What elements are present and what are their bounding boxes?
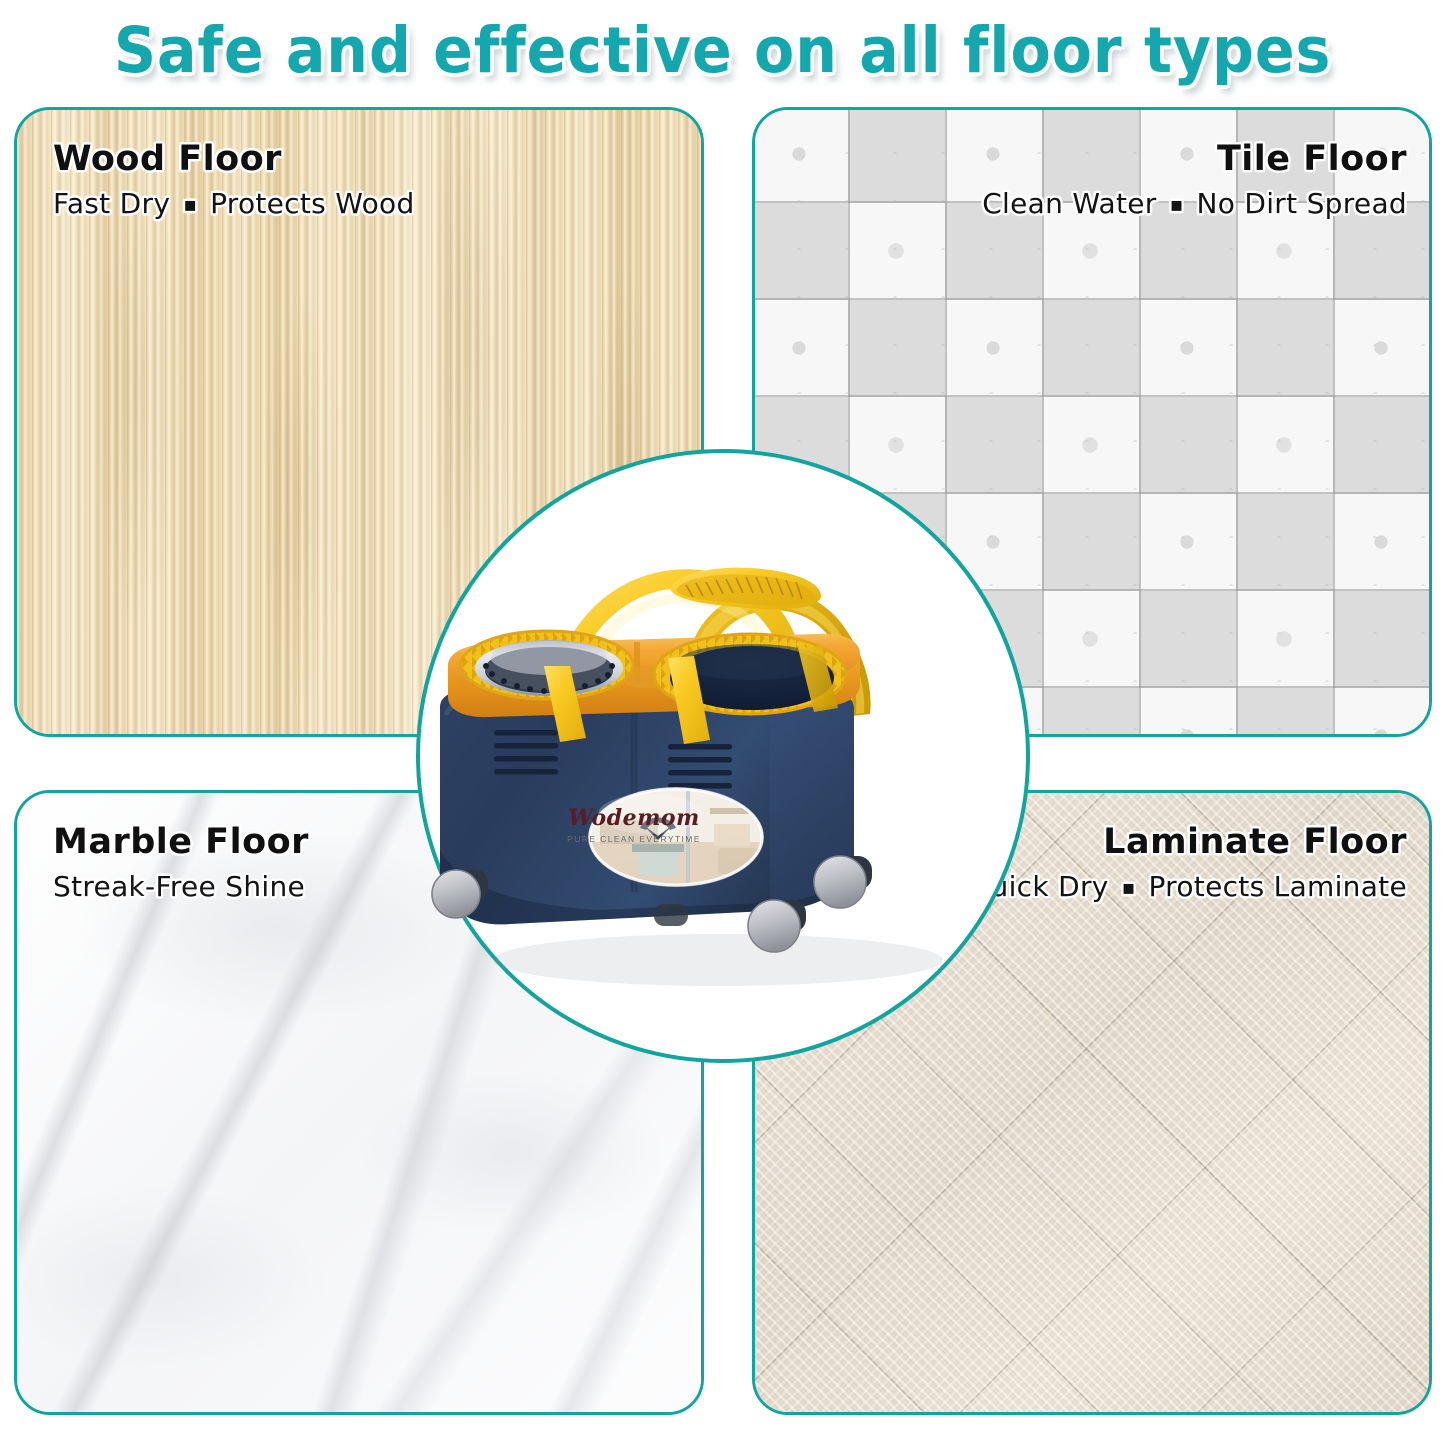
tile-caption-block: Tile Floor Clean Water▪No Dirt Spread — [982, 142, 1407, 218]
product-image-spin-mop-bucket — [418, 452, 1028, 1062]
brand-label-oval — [588, 787, 764, 887]
wood-feature-2: Protects Wood — [210, 187, 414, 220]
tile-floor-features: Clean Water▪No Dirt Spread — [982, 190, 1407, 218]
wood-floor-title: Wood Floor — [53, 142, 415, 177]
laminate-floor-title: Laminate Floor — [968, 825, 1407, 860]
tile-feature-1: Clean Water — [982, 187, 1156, 220]
marble-feature-1: Streak-Free Shine — [53, 870, 305, 903]
page-title: Safe and effective on all floor types — [114, 14, 1332, 87]
marble-caption-block: Marble Floor Streak-Free Shine — [53, 825, 309, 901]
tile-feature-2: No Dirt Spread — [1196, 187, 1407, 220]
product-infographic-poster: Safe and effective on all floor types Wo… — [0, 0, 1445, 1430]
poster-header: Safe and effective on all floor types — [0, 0, 1445, 100]
laminate-floor-features: Quick Dry▪Protects Laminate — [968, 873, 1407, 901]
tile-floor-title: Tile Floor — [982, 142, 1407, 177]
laminate-feature-2: Protects Laminate — [1148, 870, 1407, 903]
wood-floor-features: Fast Dry▪Protects Wood — [53, 190, 415, 218]
wood-feature-1: Fast Dry — [53, 187, 170, 220]
marble-floor-features: Streak-Free Shine — [53, 873, 309, 901]
bullet-separator-icon: ▪ — [1170, 194, 1184, 214]
spinner-basket — [461, 631, 633, 699]
wood-caption-block: Wood Floor Fast Dry▪Protects Wood — [53, 142, 415, 218]
marble-floor-title: Marble Floor — [53, 825, 309, 860]
bullet-separator-icon: ▪ — [183, 194, 197, 214]
laminate-caption-block: Laminate Floor Quick Dry▪Protects Lamina… — [968, 825, 1407, 901]
bullet-separator-icon: ▪ — [1122, 877, 1136, 897]
